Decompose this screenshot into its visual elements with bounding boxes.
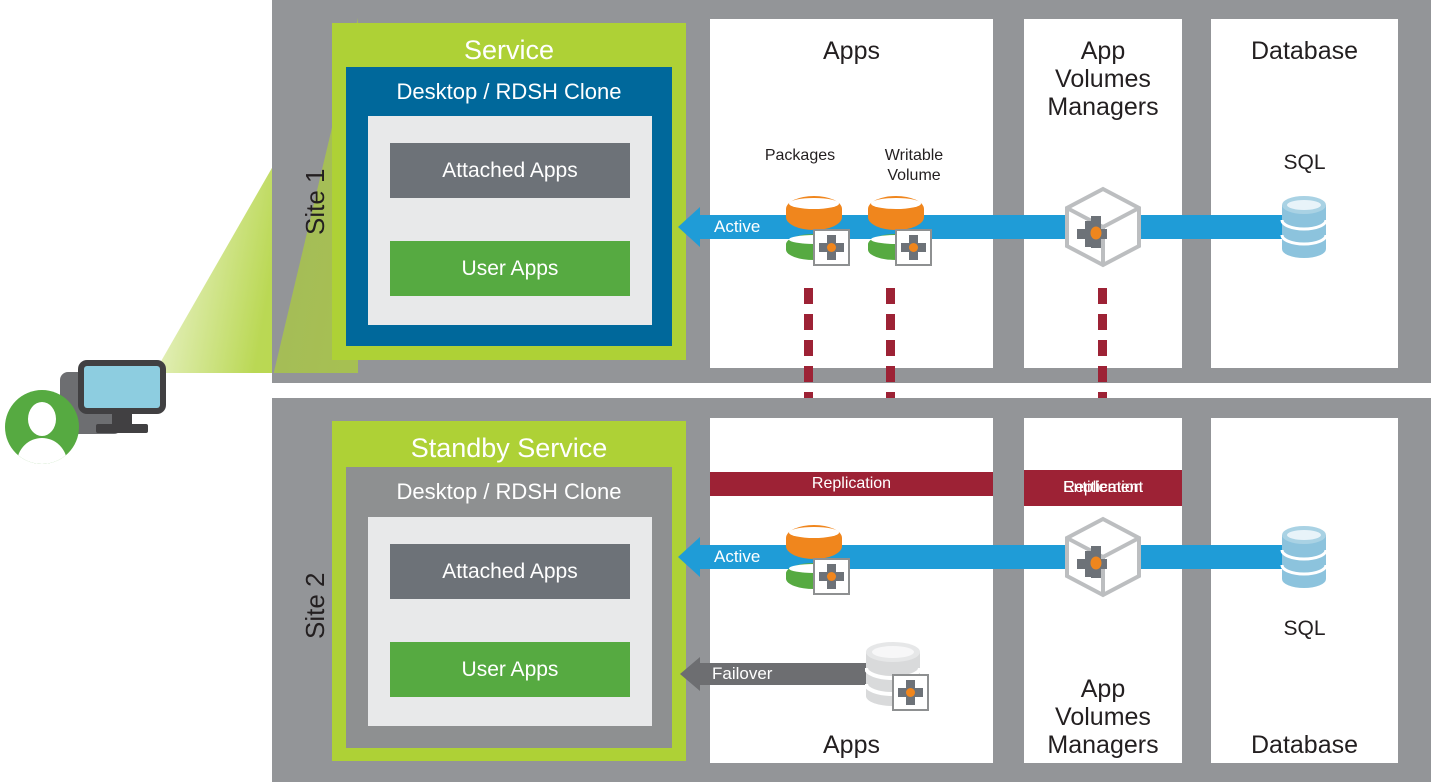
site-2-package-badge-icon bbox=[813, 558, 850, 595]
site-1-active-arrowhead-icon bbox=[678, 207, 700, 247]
site-2-avm-title-line1: App bbox=[1024, 675, 1182, 703]
site-2-failover-arrowhead-icon bbox=[680, 657, 700, 691]
site-2-service-title: Standby Service bbox=[332, 433, 686, 463]
user-avatar-head bbox=[28, 402, 56, 436]
site-1-apps-column: Apps Packages Writable Volume bbox=[710, 19, 993, 368]
site-2-user-apps-label: User Apps bbox=[390, 658, 630, 682]
site-2-clone-box: Desktop / RDSH Clone Attached Apps User … bbox=[346, 467, 672, 748]
site-1-package-badge-icon bbox=[813, 229, 850, 266]
site-1-writable-line1: Writable bbox=[858, 146, 970, 166]
user-avatar-body bbox=[17, 438, 67, 464]
site-1-avm-title-line2: Volumes bbox=[1024, 65, 1182, 93]
entitlement-replication-label-line2: Replication bbox=[1024, 479, 1182, 497]
site-1-clone-box: Desktop / RDSH Clone Attached Apps User … bbox=[346, 67, 672, 346]
monitor-icon bbox=[78, 360, 166, 414]
site-1-database-column: Database SQL bbox=[1211, 19, 1398, 368]
site-1-active-label: Active bbox=[714, 217, 760, 237]
site-1-attached-apps-label: Attached Apps bbox=[390, 159, 630, 183]
site-1-clone-title: Desktop / RDSH Clone bbox=[346, 79, 672, 104]
site-2-active-arrowhead-icon bbox=[678, 537, 700, 577]
site-1-packages-label: Packages bbox=[738, 146, 862, 166]
site-1-apps-title: Apps bbox=[710, 37, 993, 65]
site-1-service-title: Service bbox=[332, 35, 686, 65]
site-1-user-apps-label: User Apps bbox=[390, 257, 630, 281]
site-1-database-title: Database bbox=[1211, 37, 1398, 65]
site-2-app-volumes-manager-cube-icon bbox=[1063, 516, 1143, 598]
site-1-writable-line2: Volume bbox=[858, 166, 970, 186]
site-1-sql-database-cylinder-icon bbox=[1280, 196, 1328, 258]
site-2-avm-title-line2: Volumes bbox=[1024, 703, 1182, 731]
entitlement-replication-bar: Entitlement Replication bbox=[1024, 470, 1182, 506]
user-avatar-icon bbox=[5, 390, 79, 464]
site-1-clone-inner-panel: Attached Apps User Apps bbox=[368, 116, 652, 325]
site-1-avm-title-line1: App bbox=[1024, 37, 1182, 65]
site-2-database-title: Database bbox=[1211, 731, 1398, 759]
site-2-attached-apps: Attached Apps bbox=[390, 544, 630, 599]
site-2-attached-apps-label: Attached Apps bbox=[390, 560, 630, 584]
site-2-clone-title: Desktop / RDSH Clone bbox=[346, 479, 672, 504]
site-2-user-apps: User Apps bbox=[390, 642, 630, 697]
site-2-database-column: SQL Database bbox=[1211, 418, 1398, 763]
site-2-sql-database-cylinder-icon bbox=[1280, 526, 1328, 588]
site-1-app-volumes-manager-cube-icon bbox=[1063, 186, 1143, 268]
monitor-stand-foot bbox=[96, 424, 148, 433]
site-2-failover-badge-icon bbox=[892, 674, 929, 711]
site-2-apps-title: Apps bbox=[710, 731, 993, 759]
site-1-sql-label: SQL bbox=[1211, 151, 1398, 174]
site-2-service-box: Standby Service Desktop / RDSH Clone Att… bbox=[332, 421, 686, 761]
site-2-clone-inner-panel: Attached Apps User Apps bbox=[368, 517, 652, 726]
site-1-attached-apps: Attached Apps bbox=[390, 143, 630, 198]
site-1-writable-badge-icon bbox=[895, 229, 932, 266]
site-2-sql-label: SQL bbox=[1211, 617, 1398, 640]
site-1-avm-title-line3: Managers bbox=[1024, 93, 1182, 121]
site-2-apps-column: Apps bbox=[710, 418, 993, 763]
apps-replication-bar: Replication bbox=[710, 472, 993, 496]
diagram-canvas: Site 1 Service Desktop / RDSH Clone Atta… bbox=[0, 0, 1431, 782]
site-1-label: Site 1 bbox=[300, 169, 331, 236]
site-1-writable-label: Writable Volume bbox=[858, 146, 970, 186]
site-2-failover-label: Failover bbox=[712, 664, 772, 684]
site-1-service-box: Service Desktop / RDSH Clone Attached Ap… bbox=[332, 23, 686, 360]
monitor-screen bbox=[84, 366, 160, 408]
site-2-label: Site 2 bbox=[300, 573, 331, 640]
site-1-user-apps: User Apps bbox=[390, 241, 630, 296]
site-2-avm-title-line3: Managers bbox=[1024, 731, 1182, 759]
apps-replication-label: Replication bbox=[710, 475, 993, 493]
site-2-active-label: Active bbox=[714, 547, 760, 567]
